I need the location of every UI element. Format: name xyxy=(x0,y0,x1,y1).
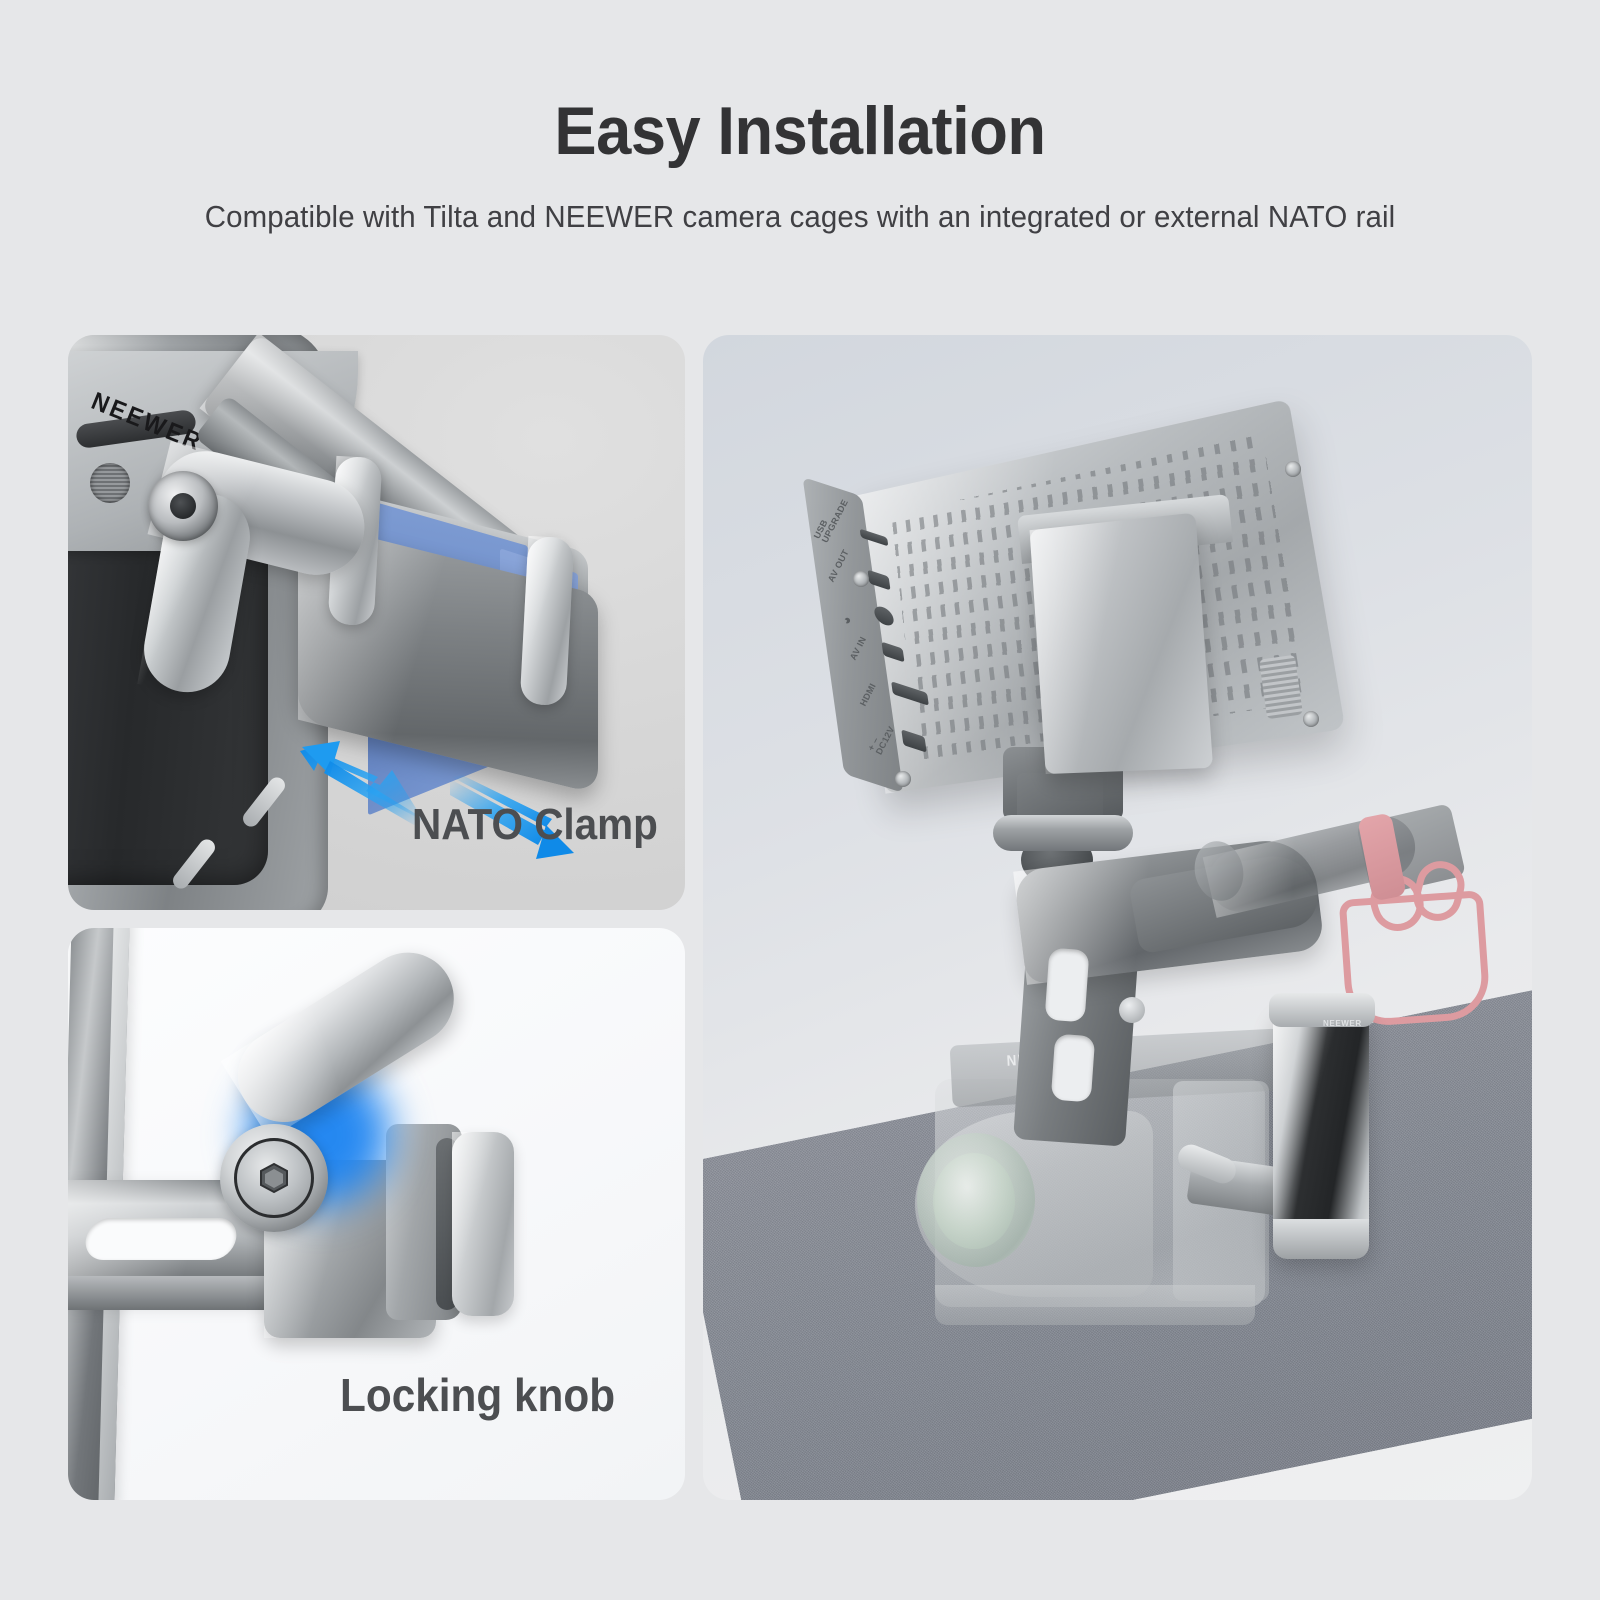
pivot-screw-cap xyxy=(148,471,218,541)
handle-leg-cutout xyxy=(1045,948,1090,1023)
locking-knob-caption: Locking knob xyxy=(340,1368,615,1422)
hex-socket-icon xyxy=(258,1162,290,1194)
monitor-screw xyxy=(1285,461,1301,477)
monitor-screw xyxy=(895,771,911,787)
full-setup-panel: USBUPGRADE AV OUT ◕ AV IN HDMI + –DC12V … xyxy=(703,335,1532,1500)
side-handle-foot xyxy=(1273,1219,1369,1259)
nato-clamp-panel: NEEWER xyxy=(68,335,685,910)
clamp-jaw-right xyxy=(520,536,575,706)
page-subtitle: Compatible with Tilta and NEEWER camera … xyxy=(40,199,1560,235)
monitor-screw xyxy=(853,571,869,587)
handle-mount-screw xyxy=(1119,997,1145,1023)
header: Easy Installation Compatible with Tilta … xyxy=(0,0,1600,235)
arrow-slide-left-icon xyxy=(296,739,426,825)
handle-leg-cutout xyxy=(1051,1034,1096,1103)
lens-inner-element xyxy=(933,1153,1015,1249)
camera-baseplate xyxy=(935,1285,1255,1325)
monitor-battery xyxy=(1030,513,1214,775)
cage-threaded-hole xyxy=(90,463,130,503)
side-handle-logo: NEEWER xyxy=(1323,1019,1362,1028)
clamp-jaw-front xyxy=(452,1132,514,1316)
mount-tension-ring[interactable] xyxy=(993,815,1133,851)
monitor-screw xyxy=(1303,711,1319,727)
page-title: Easy Installation xyxy=(56,96,1544,167)
locking-knob-panel: Locking knob xyxy=(68,928,685,1500)
nato-clamp-caption: NATO Clamp xyxy=(412,800,658,850)
